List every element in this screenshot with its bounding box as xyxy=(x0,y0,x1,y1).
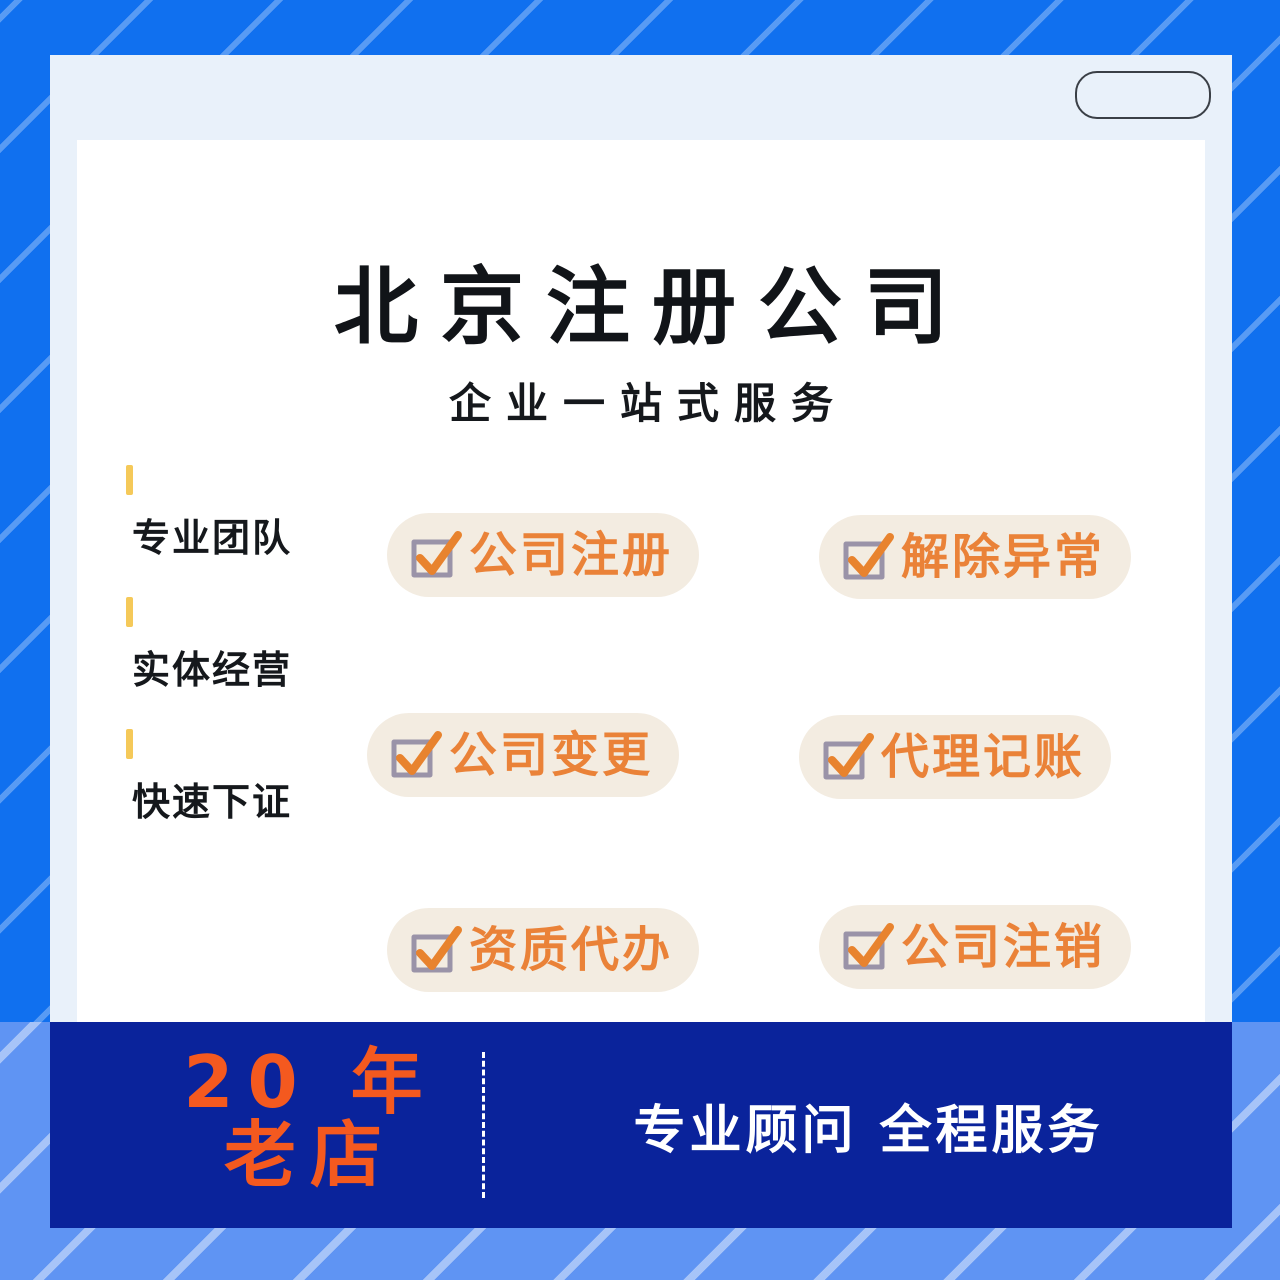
header-pill-placeholder[interactable] xyxy=(1075,71,1211,119)
checkbox-checked-icon xyxy=(409,926,461,974)
service-pill-company-deregistration[interactable]: 公司注销 xyxy=(819,905,1131,989)
checkbox-checked-icon xyxy=(841,533,893,581)
service-pill-company-change[interactable]: 公司变更 xyxy=(367,713,679,797)
card-content-area: 北京注册公司 企业一站式服务 专业团队 实体经营 快速下证 xyxy=(77,140,1205,1022)
main-card: 北京注册公司 企业一站式服务 专业团队 实体经营 快速下证 xyxy=(50,55,1232,1022)
checkbox-checked-icon xyxy=(409,531,461,579)
service-pill-label: 公司注销 xyxy=(901,923,1105,971)
service-pill-label: 代理记账 xyxy=(881,733,1085,781)
service-pill-company-registration[interactable]: 公司注册 xyxy=(387,513,699,597)
checkbox-checked-icon xyxy=(841,923,893,971)
service-pill-grid: 公司注册 解除异常 xyxy=(77,140,1205,1022)
banner-slogan: 专业顾问 全程服务 xyxy=(505,1022,1232,1228)
service-pill-label: 资质代办 xyxy=(469,926,673,974)
service-pill-label: 解除异常 xyxy=(901,533,1105,581)
years-badge-line2: 老店 xyxy=(170,1119,450,1192)
bottom-banner: 20 年 老店 专业顾问 全程服务 xyxy=(50,1022,1232,1228)
years-badge-line1: 20 年 xyxy=(170,1046,450,1119)
service-pill-bookkeeping-agency[interactable]: 代理记账 xyxy=(799,715,1111,799)
banner-divider xyxy=(482,1052,485,1198)
years-badge: 20 年 老店 xyxy=(170,1046,450,1193)
checkbox-checked-icon xyxy=(389,731,441,779)
service-pill-qualification-agency[interactable]: 资质代办 xyxy=(387,908,699,992)
service-pill-abnormality-removal[interactable]: 解除异常 xyxy=(819,515,1131,599)
service-pill-label: 公司变更 xyxy=(449,731,653,779)
checkbox-checked-icon xyxy=(821,733,873,781)
poster-root: 北京注册公司 企业一站式服务 专业团队 实体经营 快速下证 xyxy=(0,0,1280,1280)
service-pill-label: 公司注册 xyxy=(469,531,673,579)
